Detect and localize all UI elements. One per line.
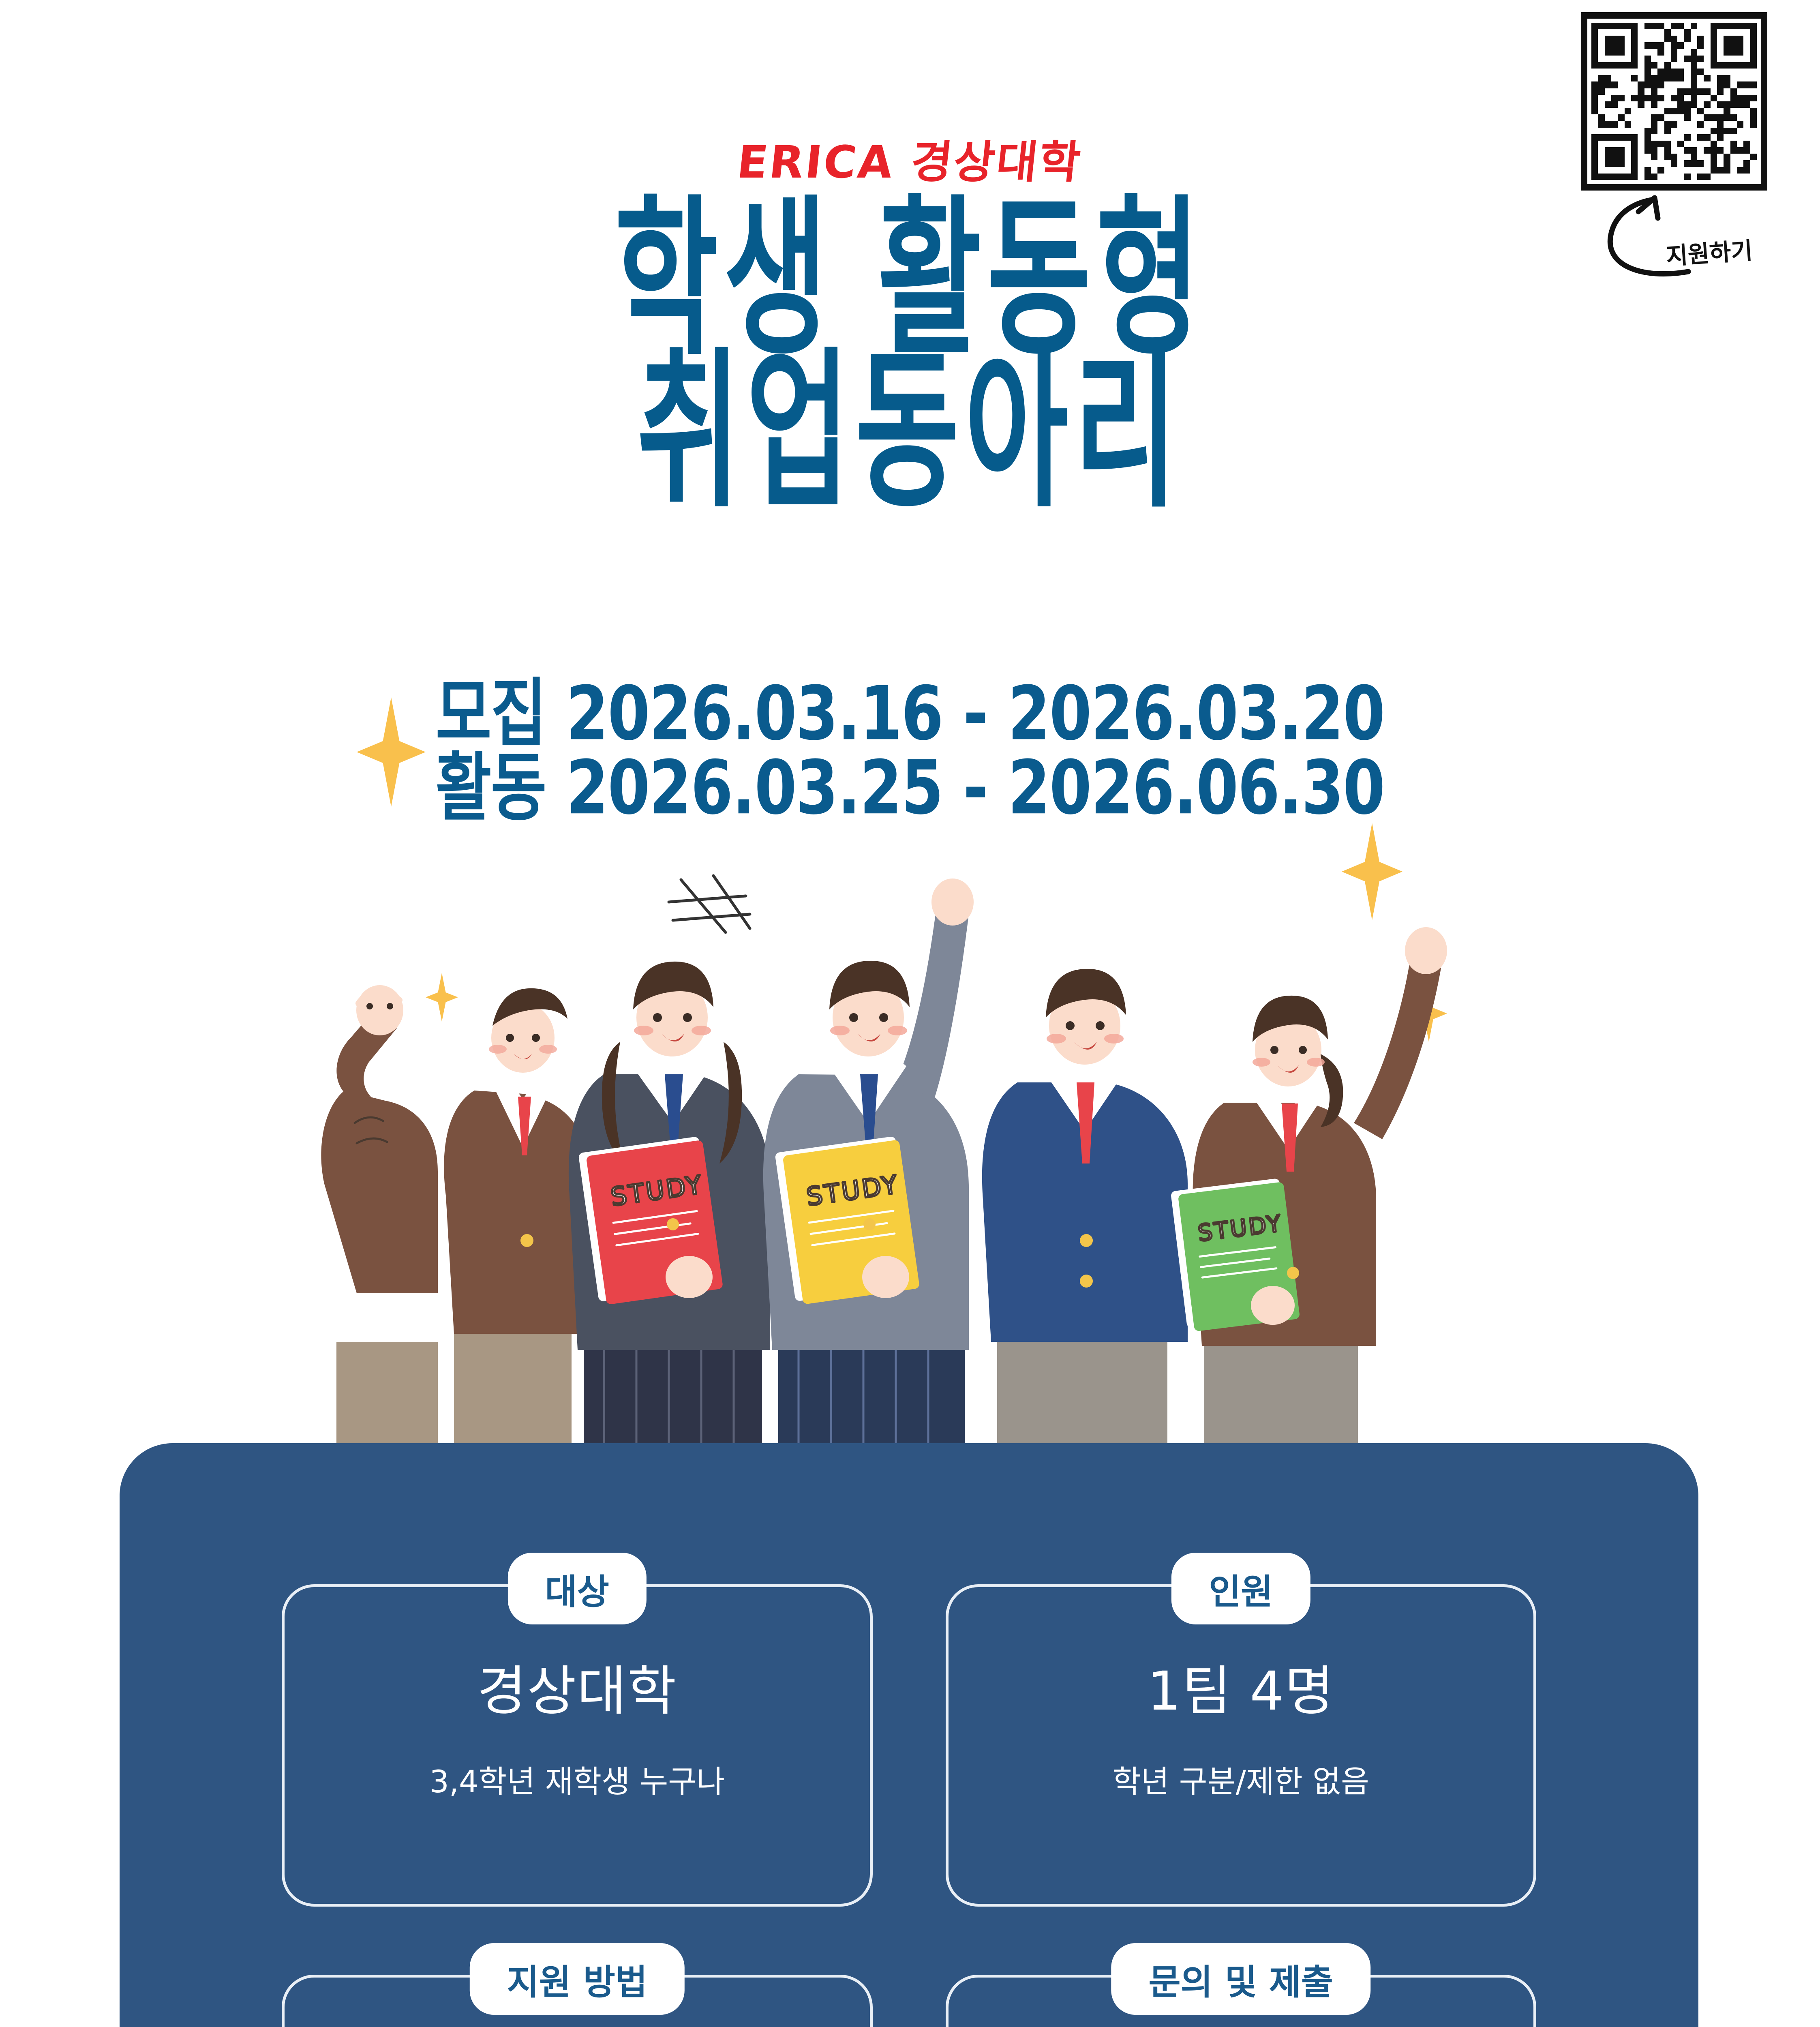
card-badge-label: 대상	[508, 1553, 647, 1624]
card-main-text: 1팀 4명	[1147, 1648, 1335, 1725]
info-card-how-to-apply: 신청서 제출 신청서 1부, 활동계획서 1부 지원 방법	[282, 1943, 873, 2027]
info-card-grid: 경상대학 3,4학년 재학생 누구나 대상 1팀 4명 학년 구분/제한 없음 …	[120, 1443, 1698, 2027]
card-body: 경상대학 3,4학년 재학생 누구나	[282, 1584, 873, 1907]
card-main-text: 경상대학	[477, 1648, 677, 1725]
students-group-svg: STUDY	[263, 864, 1581, 1451]
card-sub-line: 학년 구분/제한 없음	[1113, 1762, 1369, 1802]
card-sub-line: 3,4학년 재학생 누구나	[429, 1762, 725, 1802]
date-block: 모집 2026.03.16 - 2026.03.20 활동 2026.03.25…	[0, 669, 1820, 817]
card-badge-label: 문의 및 제출	[1111, 1943, 1370, 2015]
info-card-target: 경상대학 3,4학년 재학생 누구나 대상	[282, 1553, 873, 1907]
students-illustration: STUDY	[263, 864, 1581, 1451]
card-body: 1팀 4명 학년 구분/제한 없음	[946, 1584, 1537, 1907]
card-sub-text: 3,4학년 재학생 누구나	[429, 1762, 725, 1802]
card-badge-label: 지원 방법	[470, 1943, 685, 2015]
title-line-2: 취업동아리	[36, 351, 1784, 513]
poster-title: 학생 활동형 취업동아리	[0, 199, 1820, 463]
info-card-contact: 경상대학 행정팀 031-400-5599 gmdy1999@hanyang.a…	[946, 1943, 1537, 2027]
activity-period: 활동 2026.03.25 - 2026.06.30	[0, 743, 1820, 834]
card-sub-text: 학년 구분/제한 없음	[1113, 1762, 1369, 1802]
info-panel: 경상대학 3,4학년 재학생 누구나 대상 1팀 4명 학년 구분/제한 없음 …	[120, 1443, 1698, 2027]
card-badge-label: 인원	[1171, 1553, 1310, 1624]
info-card-headcount: 1팀 4명 학년 구분/제한 없음 인원	[946, 1553, 1537, 1907]
